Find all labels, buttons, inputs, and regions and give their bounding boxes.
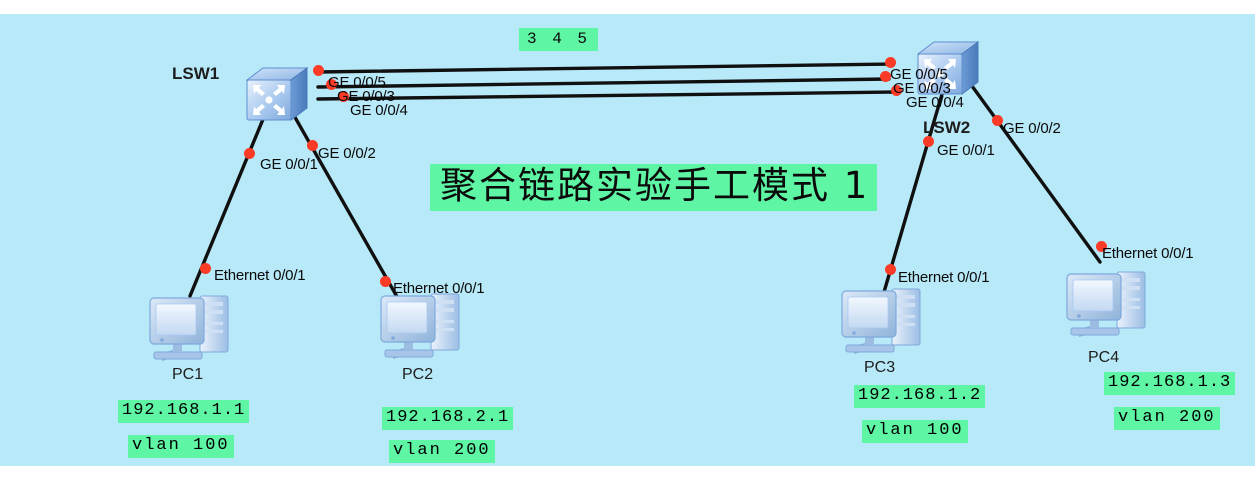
device-label-pc3: PC3 bbox=[864, 359, 895, 377]
port-label: GE 0/0/1 bbox=[937, 142, 995, 159]
port-label: GE 0/0/1 bbox=[260, 156, 318, 173]
port-dot[interactable] bbox=[307, 140, 318, 151]
pc-icon bbox=[1063, 262, 1155, 340]
annotation-pc1-ip: 192.168.1.1 bbox=[118, 400, 249, 423]
link-line[interactable] bbox=[318, 79, 889, 87]
link-line[interactable] bbox=[972, 86, 1100, 262]
port-label: GE 0/0/4 bbox=[350, 102, 408, 119]
pc-icon bbox=[838, 279, 930, 357]
link-line[interactable] bbox=[318, 92, 899, 99]
device-label-pc2: PC2 bbox=[402, 366, 433, 384]
annotation-pc2-ip: 192.168.2.1 bbox=[382, 407, 513, 430]
port-label: Ethernet 0/0/1 bbox=[393, 280, 484, 297]
port-dot[interactable] bbox=[200, 263, 211, 274]
annotation-pc2-vlan: vlan 200 bbox=[389, 440, 495, 463]
device-pc1[interactable] bbox=[146, 286, 238, 364]
port-dot[interactable] bbox=[885, 264, 896, 275]
port-dot[interactable] bbox=[313, 65, 324, 76]
port-label: Ethernet 0/0/1 bbox=[214, 267, 305, 284]
diagram-canvas: GE 0/0/5GE 0/0/3GE 0/0/4GE 0/0/1GE 0/0/2… bbox=[0, 0, 1255, 482]
port-dot[interactable] bbox=[380, 276, 391, 287]
pc-icon bbox=[146, 286, 238, 364]
device-pc4[interactable] bbox=[1063, 262, 1155, 340]
device-label-lsw1: LSW1 bbox=[172, 64, 219, 84]
device-pc3[interactable] bbox=[838, 279, 930, 357]
port-label: GE 0/0/2 bbox=[318, 145, 376, 162]
port-label: GE 0/0/2 bbox=[1003, 120, 1061, 137]
switch-icon bbox=[241, 64, 313, 126]
port-dot[interactable] bbox=[992, 115, 1003, 126]
port-label: Ethernet 0/0/1 bbox=[1102, 245, 1193, 262]
port-label: Ethernet 0/0/1 bbox=[898, 269, 989, 286]
annotation-pc4-vlan: vlan 200 bbox=[1114, 407, 1220, 430]
annotation-pc4-ip: 192.168.1.3 bbox=[1104, 372, 1235, 395]
trunk-vlan-badge: 3 4 5 bbox=[519, 28, 598, 51]
annotation-pc3-vlan: vlan 100 bbox=[862, 420, 968, 443]
device-label-lsw2: LSW2 bbox=[923, 118, 970, 138]
device-label-pc4: PC4 bbox=[1088, 349, 1119, 367]
link-line[interactable] bbox=[884, 84, 945, 292]
port-label: GE 0/0/4 bbox=[906, 94, 964, 111]
device-label-pc1: PC1 bbox=[172, 366, 203, 384]
device-lsw1[interactable] bbox=[241, 64, 313, 126]
diagram-title: 聚合链路实验手工模式 1 bbox=[430, 164, 877, 211]
link-line[interactable] bbox=[318, 64, 893, 72]
annotation-pc3-ip: 192.168.1.2 bbox=[854, 385, 985, 408]
topology-stage[interactable]: GE 0/0/5GE 0/0/3GE 0/0/4GE 0/0/1GE 0/0/2… bbox=[0, 14, 1255, 466]
port-dot[interactable] bbox=[244, 148, 255, 159]
annotation-pc1-vlan: vlan 100 bbox=[128, 435, 234, 458]
